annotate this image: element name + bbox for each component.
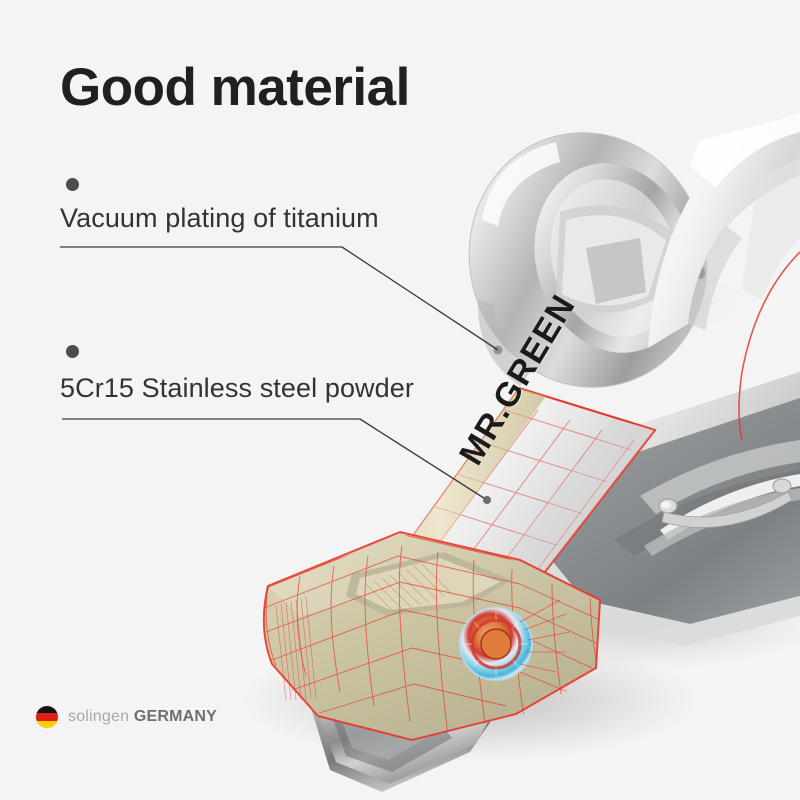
feature-label-stainless-steel-powder: 5Cr15 Stainless steel powder <box>60 373 414 404</box>
bullet-dot-icon <box>66 178 79 191</box>
product-feature-image: MR.GREEN Good material Vacuum plating of… <box>0 0 800 800</box>
product-brand-engraving: MR.GREEN <box>452 288 584 472</box>
brand-text: solingen GERMANY <box>68 708 217 726</box>
feature-label-vacuum-plating: Vacuum plating of titanium <box>60 203 379 234</box>
brand-footer: solingen GERMANY <box>36 706 217 728</box>
page-title: Good material <box>60 58 410 117</box>
brand-city: solingen <box>68 708 129 725</box>
german-flag-icon <box>36 706 58 728</box>
bullet-dot-icon <box>66 345 79 358</box>
brand-country: GERMANY <box>134 708 217 725</box>
